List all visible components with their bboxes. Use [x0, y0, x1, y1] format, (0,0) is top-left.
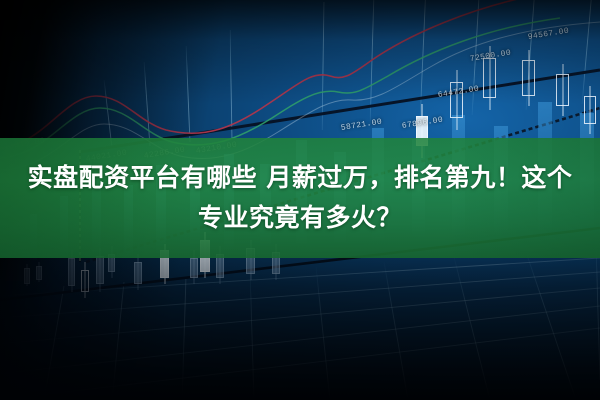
banner-image: 94567.0072500.0064472.0067896.0058721.00…	[0, 0, 600, 400]
banner-headline-line-1: 实盘配资平台有哪些 月薪过万，排名第九！这个	[28, 160, 573, 196]
banner-headline: 实盘配资平台有哪些 月薪过万，排名第九！这个 专业究竟有多火？	[0, 138, 600, 258]
banner-headline-line-2: 专业究竟有多火？	[198, 200, 402, 236]
